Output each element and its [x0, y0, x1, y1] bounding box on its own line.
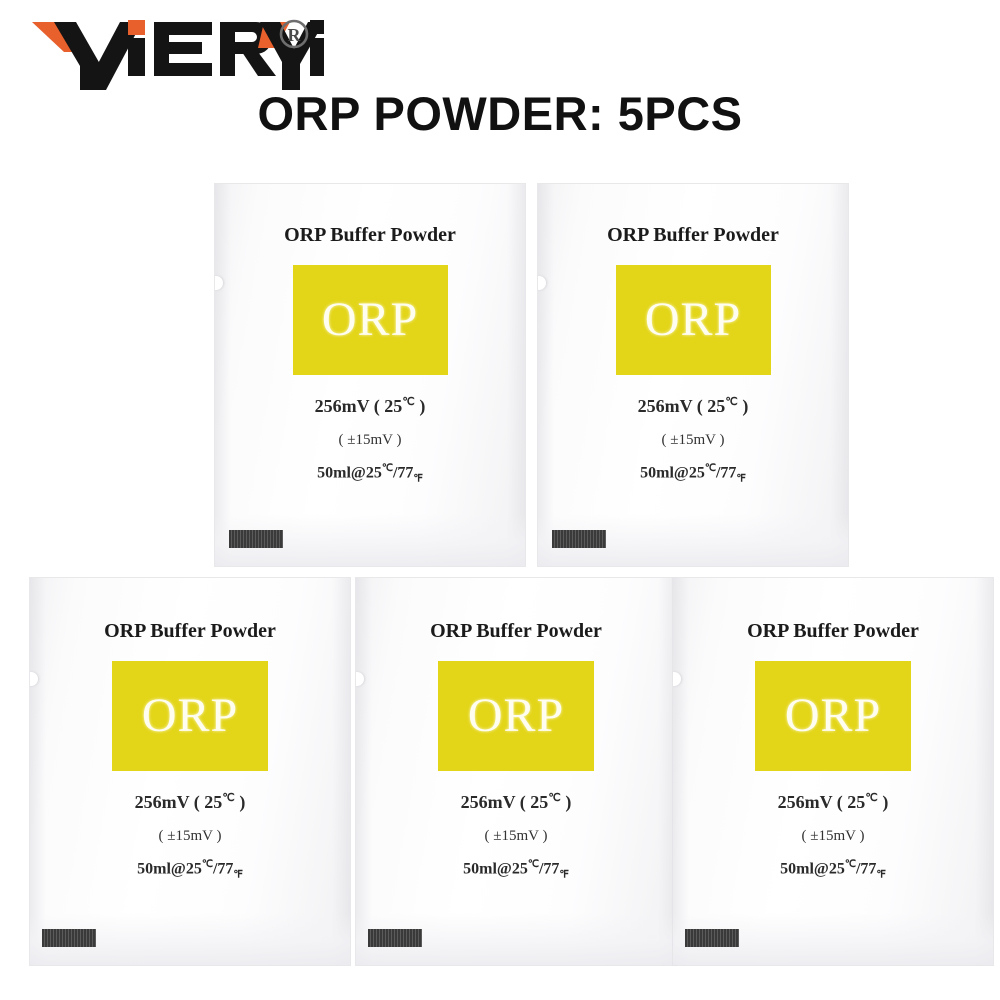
sachet-bottom-left: ORP Buffer Powder ORP 256mV ( 25℃ ) ( ±1… — [30, 578, 350, 965]
spec-potential: 256mV ( 25℃ ) — [538, 395, 848, 417]
spec-tolerance: ( ±15mV ) — [30, 828, 350, 845]
sachet-top-left: ORP Buffer Powder ORP 256mV ( 25℃ ) ( ±1… — [215, 184, 525, 566]
orp-badge: ORP — [438, 661, 594, 771]
batch-code-bar — [229, 530, 283, 548]
sachet-label: ORP Buffer Powder ORP 256mV ( 25℃ ) ( ±1… — [538, 224, 848, 485]
spec-tolerance: ( ±15mV ) — [538, 432, 848, 449]
sachet-top-right: ORP Buffer Powder ORP 256mV ( 25℃ ) ( ±1… — [538, 184, 848, 566]
orp-badge: ORP — [293, 265, 448, 375]
spec-tolerance: ( ±15mV ) — [356, 828, 676, 845]
spec-potential: 256mV ( 25℃ ) — [30, 791, 350, 813]
registered-trademark-icon: R — [274, 14, 314, 54]
orp-badge: ORP — [755, 661, 911, 771]
spec-volume: 50ml@25℃/77℉ — [30, 859, 350, 881]
batch-code-bar — [685, 929, 739, 947]
spec-volume: 50ml@25℃/77℉ — [356, 859, 676, 881]
spec-potential: 256mV ( 25℃ ) — [215, 395, 525, 417]
batch-code-bar — [552, 530, 606, 548]
orp-badge-text: ORP — [645, 296, 741, 344]
orp-badge: ORP — [112, 661, 268, 771]
orp-badge-text: ORP — [468, 692, 564, 740]
batch-code-bar — [368, 929, 422, 947]
spec-tolerance: ( ±15mV ) — [673, 828, 993, 845]
page-title: ORP POWDER: 5PCS — [0, 86, 1000, 141]
spec-potential: 256mV ( 25℃ ) — [356, 791, 676, 813]
sachet-bottom-center: ORP Buffer Powder ORP 256mV ( 25℃ ) ( ±1… — [356, 578, 676, 965]
spec-volume: 50ml@25℃/77℉ — [538, 463, 848, 485]
svg-text:R: R — [288, 25, 302, 45]
spec-tolerance: ( ±15mV ) — [215, 432, 525, 449]
brand-logo: R — [24, 8, 324, 94]
sachet-label: ORP Buffer Powder ORP 256mV ( 25℃ ) ( ±1… — [30, 620, 350, 881]
spec-volume: 50ml@25℃/77℉ — [215, 463, 525, 485]
sachet-label: ORP Buffer Powder ORP 256mV ( 25℃ ) ( ±1… — [356, 620, 676, 881]
batch-code-bar — [42, 929, 96, 947]
spec-volume: 50ml@25℃/77℉ — [673, 859, 993, 881]
sachet-bottom-right: ORP Buffer Powder ORP 256mV ( 25℃ ) ( ±1… — [673, 578, 993, 965]
orp-badge-text: ORP — [142, 692, 238, 740]
spec-potential: 256mV ( 25℃ ) — [673, 791, 993, 813]
orp-badge-text: ORP — [322, 296, 418, 344]
sachet-heading: ORP Buffer Powder — [215, 224, 525, 247]
sachet-label: ORP Buffer Powder ORP 256mV ( 25℃ ) ( ±1… — [215, 224, 525, 485]
sachet-label: ORP Buffer Powder ORP 256mV ( 25℃ ) ( ±1… — [673, 620, 993, 881]
sachet-heading: ORP Buffer Powder — [538, 224, 848, 247]
orp-badge-text: ORP — [785, 692, 881, 740]
sachet-heading: ORP Buffer Powder — [673, 620, 993, 643]
orp-badge: ORP — [616, 265, 771, 375]
sachet-heading: ORP Buffer Powder — [30, 620, 350, 643]
sachet-heading: ORP Buffer Powder — [356, 620, 676, 643]
